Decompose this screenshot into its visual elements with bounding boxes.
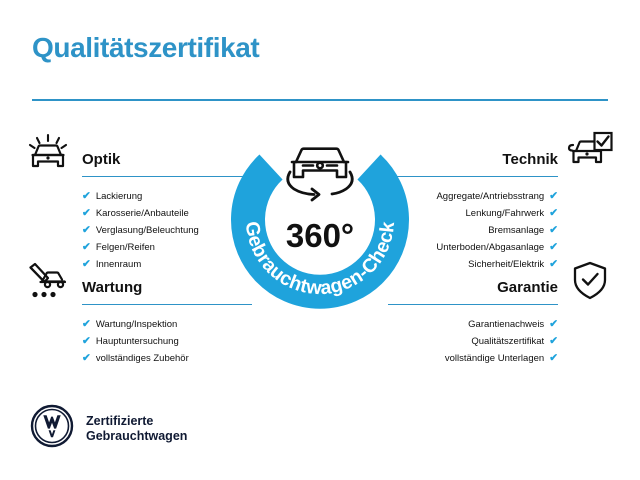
section-header: Wartung [82,266,230,300]
list-item: Bremsanlage✔ [410,222,558,239]
list-item: vollständige Unterlagen✔ [410,350,558,367]
list-item-label: Garantienachweis [468,316,544,333]
page-title: Qualitätszertifikat [32,32,259,64]
section-technik: Technik Aggregate/Antriebsstrang✔ Lenkun… [410,138,558,273]
check-icon: ✔ [549,336,558,347]
section-optik: Optik ✔Lackierung ✔Karosserie/Anbauteile… [82,138,230,273]
car-service-pen-icon [26,261,70,306]
check-icon: ✔ [82,191,91,202]
section-title: Technik [502,151,558,168]
section-header: Garantie [410,266,558,300]
check-icon: ✔ [549,208,558,219]
list-item: ✔Verglasung/Beleuchtung [82,222,230,239]
vw-logo-icon [30,404,74,453]
list-item-label: Hauptuntersuchung [96,333,179,350]
list-item: ✔Karosserie/Anbauteile [82,205,230,222]
section-title: Wartung [82,279,142,296]
list-item: Aggregate/Antriebsstrang✔ [410,188,558,205]
list-item-label: Felgen/Reifen [96,239,155,256]
checklist: ✔Lackierung ✔Karosserie/Anbauteile ✔Verg… [82,188,230,273]
footer-brand: Zertifizierte Gebrauchtwagen [30,404,187,453]
list-item: Qualitätszertifikat✔ [410,333,558,350]
list-item-label: vollständiges Zubehör [96,350,189,367]
list-item: Unterboden/Abgasanlage✔ [410,239,558,256]
check-icon: ✔ [82,208,91,219]
list-item-label: Aggregate/Antriebsstrang [436,188,544,205]
list-item: ✔Wartung/Inspektion [82,316,230,333]
check-icon: ✔ [82,336,91,347]
list-item: ✔Lackierung [82,188,230,205]
section-title: Optik [82,151,120,168]
list-item-label: Lenkung/Fahrwerk [466,205,545,222]
checklist: ✔Wartung/Inspektion ✔Hauptuntersuchung ✔… [82,316,230,367]
section-header: Technik [410,138,558,172]
certificate-page: Qualitätszertifikat [0,0,640,480]
list-item: ✔Felgen/Reifen [82,239,230,256]
car-shine-icon [26,133,70,178]
list-item-label: vollständige Unterlagen [445,350,544,367]
badge-center-label: 360° [218,217,422,255]
list-item: Garantienachweis✔ [410,316,558,333]
list-item-label: Bremsanlage [488,222,544,239]
checklist: Aggregate/Antriebsstrang✔ Lenkung/Fahrwe… [410,188,558,273]
check-icon: ✔ [549,191,558,202]
footer-line-2: Gebrauchtwagen [86,429,187,443]
list-item: Lenkung/Fahrwerk✔ [410,205,558,222]
section-header: Optik [82,138,230,172]
car-checkbox-icon [566,131,614,178]
section-title: Garantie [497,279,558,296]
footer-brand-text: Zertifizierte Gebrauchtwagen [86,414,187,444]
list-item-label: Wartung/Inspektion [96,316,178,333]
list-item-label: Lackierung [96,188,142,205]
checklist: Garantienachweis✔ Qualitätszertifikat✔ v… [410,316,558,367]
list-item-label: Karosserie/Anbauteile [96,205,189,222]
check-icon: ✔ [549,225,558,236]
list-item: ✔Hauptuntersuchung [82,333,230,350]
footer-line-1: Zertifizierte [86,414,153,428]
section-garantie: Garantie Garantienachweis✔ Qualitätszert… [410,266,558,367]
list-item-label: Verglasung/Beleuchtung [96,222,199,239]
check-icon: ✔ [82,319,91,330]
list-item: ✔vollständiges Zubehör [82,350,230,367]
check-icon: ✔ [82,353,91,364]
check-icon: ✔ [82,242,91,253]
check-icon: ✔ [549,319,558,330]
shield-check-icon [572,261,608,306]
check-icon: ✔ [549,353,558,364]
check-icon: ✔ [82,225,91,236]
section-wartung: Wartung ✔Wartung/Inspektion ✔Hauptunters… [82,266,230,367]
gebrauchtwagen-check-badge: Gebrauchtwagen-Check 360° [218,120,422,320]
list-item-label: Unterboden/Abgasanlage [436,239,544,256]
check-icon: ✔ [549,242,558,253]
title-divider [32,99,608,101]
list-item-label: Qualitätszertifikat [471,333,544,350]
